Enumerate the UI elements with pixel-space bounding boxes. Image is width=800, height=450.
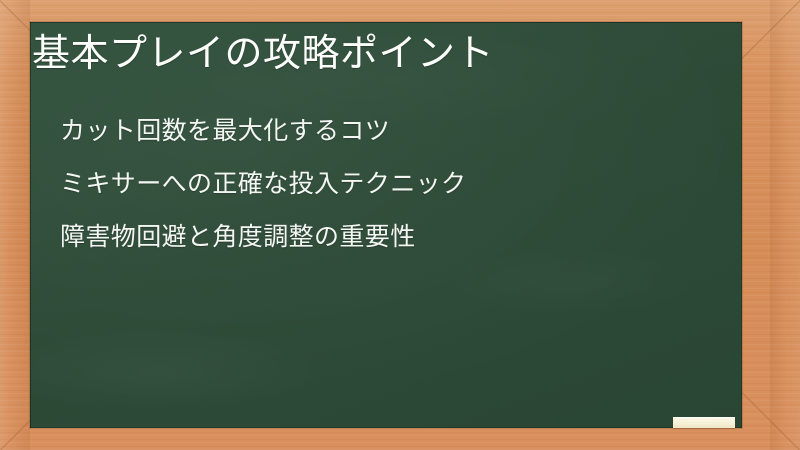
list-item: ミキサーへの正確な投入テクニック <box>60 157 466 210</box>
list-item: カット回数を最大化するコツ <box>60 104 466 157</box>
frame-miter-bottom-right-icon <box>744 394 800 450</box>
chalkboard-surface: 基本プレイの攻略ポイント カット回数を最大化するコツ ミキサーへの正確な投入テク… <box>30 22 742 428</box>
frame-right-rail-highlight <box>770 0 800 450</box>
list-item: 障害物回避と角度調整の重要性 <box>60 210 466 263</box>
chalk-stick-icon <box>673 417 735 428</box>
key-points-list: カット回数を最大化するコツ ミキサーへの正確な投入テクニック 障害物回避と角度調… <box>60 104 466 263</box>
slide-title: 基本プレイの攻略ポイント <box>32 30 494 78</box>
frame-left-rail-highlight <box>0 0 30 450</box>
frame-miter-top-right-icon <box>744 0 800 56</box>
chalkboard-wooden-frame: 基本プレイの攻略ポイント カット回数を最大化するコツ ミキサーへの正確な投入テク… <box>0 0 800 450</box>
